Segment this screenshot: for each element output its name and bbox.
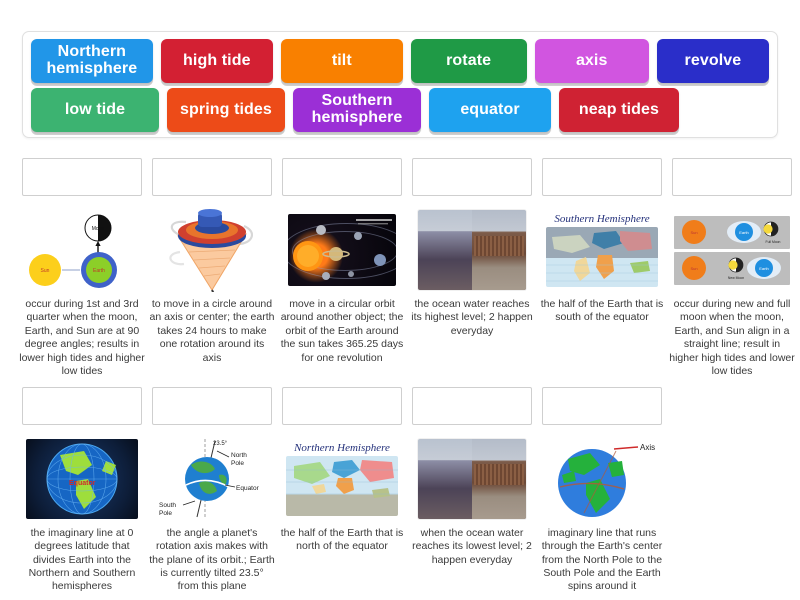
northern-hemisphere-map: Northern Hemisphere <box>282 437 402 521</box>
card-caption: to move in a circle around an axis or ce… <box>149 298 275 365</box>
svg-text:Earth: Earth <box>759 266 769 271</box>
svg-text:Sun: Sun <box>41 268 50 274</box>
svg-text:South: South <box>159 502 176 509</box>
word-tile-rotate[interactable]: rotate <box>411 39 527 83</box>
card-grid: Moon Earth Sun occur during 1st and 3rd … <box>22 158 778 594</box>
svg-text:Pole: Pole <box>159 510 172 517</box>
card-row-1: Moon Earth Sun occur during 1st and 3rd … <box>22 158 778 379</box>
tilted-earth-axis-diagram: 23.5° North Pole Equator South Pole <box>152 437 272 521</box>
dropzone-neap-tides[interactable] <box>22 158 142 196</box>
svg-text:Equator: Equator <box>69 480 96 487</box>
svg-text:North: North <box>231 452 247 459</box>
map-title: Southern Hemisphere <box>554 213 649 225</box>
word-tile-high-tide[interactable]: high tide <box>161 39 273 83</box>
card-revolve: move in a circular orbit around another … <box>282 158 402 379</box>
dropzone-southern-hemisphere[interactable] <box>542 158 662 196</box>
word-tile-southern-hemisphere[interactable]: Southern hemisphere <box>293 88 421 132</box>
new-moon-alignment-strip: Sun New Moon Earth <box>674 252 790 285</box>
word-tile-northern-hemisphere[interactable]: Northern hemisphere <box>31 39 153 83</box>
card-caption: the half of the Earth that is south of t… <box>539 298 665 325</box>
card-caption: move in a circular orbit around another … <box>279 298 405 365</box>
word-bank-row-1: Northern hemisphere high tide tilt rotat… <box>31 39 769 83</box>
card-rotate: to move in a circle around an axis or ce… <box>152 158 272 379</box>
dropzone-equator[interactable] <box>22 387 142 425</box>
card-spring-tides: Sun Earth Full Moon <box>672 158 792 379</box>
svg-text:Equator: Equator <box>236 485 260 492</box>
word-tile-revolve[interactable]: revolve <box>657 39 769 83</box>
word-bank-row-2: low tide spring tides Southern hemispher… <box>31 88 769 132</box>
card-caption: occur during 1st and 3rd quarter when th… <box>19 298 145 379</box>
svg-text:23.5°: 23.5° <box>213 441 228 447</box>
card-caption: the angle a planet's rotation axis makes… <box>149 527 275 594</box>
sun-earth-moon-right-angle-diagram: Moon Earth Sun <box>22 208 142 292</box>
map-title: Northern Hemisphere <box>294 442 390 454</box>
card-caption: occur during new and full moon when the … <box>669 298 795 379</box>
dropzone-low-tide[interactable] <box>412 387 532 425</box>
dropzone-rotate[interactable] <box>152 158 272 196</box>
earth-axis-diagram: Axis <box>542 437 662 521</box>
card-caption: imaginary line that runs through the Ear… <box>539 527 665 594</box>
dropzone-high-tide[interactable] <box>412 158 532 196</box>
dropzone-spring-tides[interactable] <box>672 158 792 196</box>
card-caption: the half of the Earth that is north of t… <box>279 527 405 554</box>
svg-text:Moon: Moon <box>92 226 105 232</box>
card-caption: when the ocean water reaches its lowest … <box>409 527 535 567</box>
match-up-activity: Northern hemisphere high tide tilt rotat… <box>0 0 800 600</box>
card-tilt: 23.5° North Pole Equator South Pole the … <box>152 387 272 594</box>
card-high-tide: the ocean water reaches its highest leve… <box>412 158 532 379</box>
svg-text:Pole: Pole <box>231 460 244 467</box>
svg-text:Earth: Earth <box>93 268 105 274</box>
word-tile-tilt[interactable]: tilt <box>281 39 403 83</box>
dropzone-axis[interactable] <box>542 387 662 425</box>
card-row-2: Equator the imaginary line at 0 degrees … <box>22 387 778 594</box>
card-neap-tides: Moon Earth Sun occur during 1st and 3rd … <box>22 158 142 379</box>
svg-text:Axis: Axis <box>640 443 655 452</box>
word-tile-equator[interactable]: equator <box>429 88 551 132</box>
svg-text:Sun: Sun <box>690 266 697 271</box>
word-tile-axis[interactable]: axis <box>535 39 649 83</box>
card-equator: Equator the imaginary line at 0 degrees … <box>22 387 142 594</box>
card-caption: the imaginary line at 0 degrees latitude… <box>19 527 145 594</box>
southern-hemisphere-map: Southern Hemisphere <box>542 208 662 292</box>
harbor-tide-photo <box>412 208 532 292</box>
full-moon-alignment-strip: Sun Earth Full Moon <box>674 216 790 249</box>
svg-text:Full Moon: Full Moon <box>766 240 781 244</box>
card-caption: the ocean water reaches its highest leve… <box>409 298 535 338</box>
card-low-tide: when the ocean water reaches its lowest … <box>412 387 532 594</box>
word-tile-neap-tides[interactable]: neap tides <box>559 88 679 132</box>
sun-earth-moon-aligned-diagram: Sun Earth Full Moon <box>672 208 792 292</box>
card-northern-hemisphere: Northern Hemisphere <box>282 387 402 594</box>
word-tile-low-tide[interactable]: low tide <box>31 88 159 132</box>
svg-text:Sun: Sun <box>690 230 697 235</box>
earth-globe-equator-photo: Equator <box>22 437 142 521</box>
solar-system-photo <box>282 208 402 292</box>
spinning-top-illustration <box>152 208 272 292</box>
svg-text:Earth: Earth <box>739 230 749 235</box>
dropzone-revolve[interactable] <box>282 158 402 196</box>
svg-text:New Moon: New Moon <box>728 276 744 280</box>
dropzone-northern-hemisphere[interactable] <box>282 387 402 425</box>
card-axis: Axis imaginary line that runs through th… <box>542 387 662 594</box>
word-tile-spring-tides[interactable]: spring tides <box>167 88 285 132</box>
harbor-tide-photo <box>412 437 532 521</box>
dropzone-tilt[interactable] <box>152 387 272 425</box>
word-bank: Northern hemisphere high tide tilt rotat… <box>22 31 778 138</box>
card-southern-hemisphere: Southern Hemisphere <box>542 158 662 379</box>
